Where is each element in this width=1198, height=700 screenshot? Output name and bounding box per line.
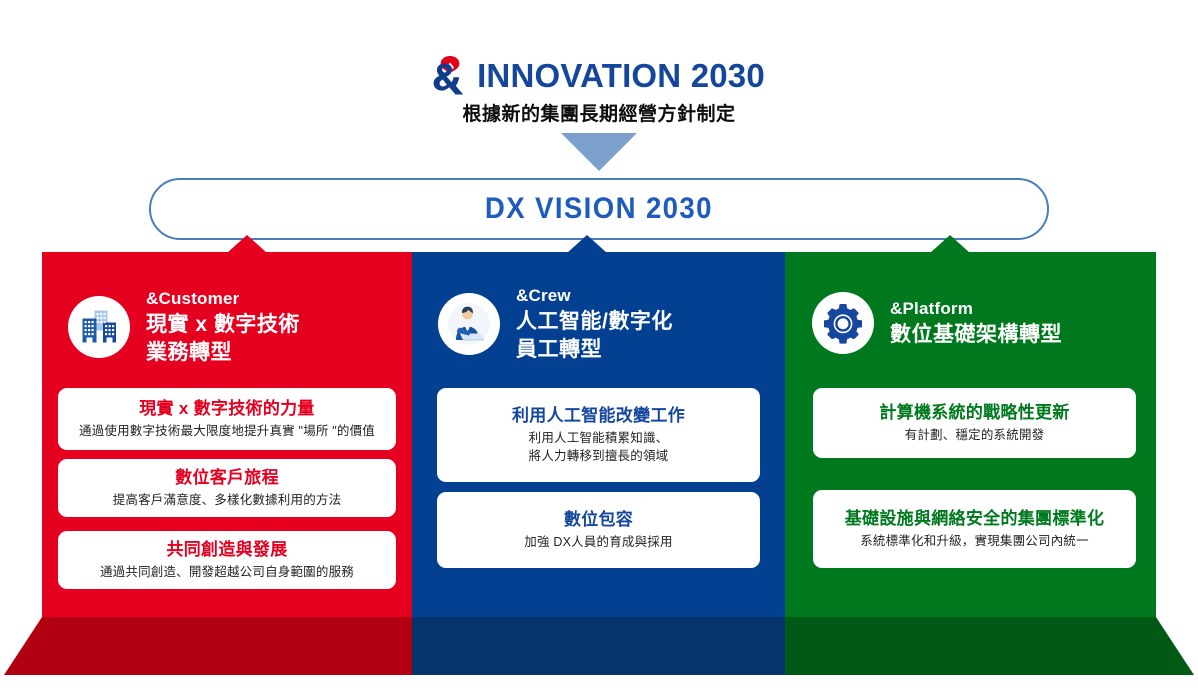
person-laptop-icon: [438, 293, 500, 355]
page-title: INNOVATION 2030: [477, 59, 765, 92]
card-desc: 系統標準化和升級，實現集團公司內統一: [860, 533, 1089, 551]
pillar-crew-title-cn-1: 人工智能/數字化: [516, 308, 673, 336]
down-arrow-icon: [561, 133, 637, 171]
card-title: 共同創造與發展: [166, 539, 287, 561]
card-title: 基礎設施與網絡安全的集團標準化: [845, 508, 1105, 530]
card-title: 計算機系統的戰略性更新: [879, 402, 1069, 424]
card-red-3: 共同創造與發展 通過共同創造、開發超越公司自身範圍的服務: [58, 531, 396, 589]
pillar-platform-title-cn-1: 數位基礎架構轉型: [890, 321, 1062, 349]
card-desc: 提高客戶滿意度、多樣化數據利用的方法: [113, 492, 342, 510]
base-green: [785, 617, 1194, 675]
card-red-2: 數位客戶旅程 提高客戶滿意度、多樣化數據利用的方法: [58, 459, 396, 517]
card-red-1: 現實 x 數字技術的力量 通過使用數字技術最大限度地提升真實 "場所 "的價值: [58, 388, 396, 450]
pillar-customer-title-en: &Customer: [146, 288, 300, 311]
pillar-platform-title-en: &Platform: [890, 298, 1062, 321]
card-title: 數位客戶旅程: [175, 467, 279, 489]
card-desc: 有計劃、穩定的系統開發: [905, 427, 1045, 445]
pillar-arrow-blue-icon: [567, 235, 607, 253]
card-title: 數位包容: [564, 509, 633, 531]
pillar-crew-title-cn-2: 員工轉型: [516, 336, 673, 364]
pillar-customer-title-cn-2: 業務轉型: [146, 339, 300, 367]
card-blue-1: 利用人工智能改變工作 利用人工智能積累知識、 將人力轉移到擅長的領域: [437, 388, 760, 482]
header: INNOVATION 2030 根據新的集團長期經營方針制定: [0, 52, 1198, 126]
card-green-2: 基礎設施與網絡安全的集團標準化 系統標準化和升級，實現集團公司內統一: [813, 490, 1136, 568]
pillar-arrow-red-icon: [227, 235, 267, 253]
pillar-crew-title-en: &Crew: [516, 285, 673, 308]
gear-icon: [812, 292, 874, 354]
card-title: 利用人工智能改變工作: [512, 405, 685, 427]
page-subtitle: 根據新的集團長期經營方針制定: [0, 105, 1198, 126]
pillar-crew-titles: &Crew 人工智能/數字化 員工轉型: [516, 285, 673, 363]
base-red: [4, 617, 412, 675]
card-desc: 加強 DX人員的育成與採用: [524, 534, 672, 552]
pillar-platform-header: &Platform 數位基礎架構轉型: [812, 292, 1062, 354]
card-desc: 通過共同創造、開發超越公司自身範圍的服務: [100, 564, 354, 582]
dx-vision-label: DX VISION 2030: [485, 192, 713, 226]
card-title: 現實 x 數字技術的力量: [139, 398, 315, 420]
card-desc: 通過使用數字技術最大限度地提升真實 "場所 "的價值: [79, 423, 375, 441]
pillar-base-3d: [0, 617, 1198, 675]
card-blue-2: 數位包容 加強 DX人員的育成與採用: [437, 492, 760, 568]
ampersand-logo-icon: [433, 54, 467, 96]
card-desc-line1: 利用人工智能積累知識、: [529, 430, 669, 448]
dx-vision-banner: DX VISION 2030: [149, 178, 1049, 240]
buildings-icon: [68, 296, 130, 358]
pillar-arrow-green-icon: [930, 235, 970, 253]
base-blue: [412, 617, 785, 675]
pillar-platform-titles: &Platform 數位基礎架構轉型: [890, 298, 1062, 349]
card-desc-line2: 將人力轉移到擅長的領域: [529, 448, 669, 466]
pillar-customer-title-cn-1: 現實 x 數字技術: [146, 311, 300, 339]
brand-row: INNOVATION 2030: [0, 52, 1198, 98]
pillar-customer-header: &Customer 現實 x 數字技術 業務轉型: [68, 288, 300, 366]
pillar-customer-titles: &Customer 現實 x 數字技術 業務轉型: [146, 288, 300, 366]
card-green-1: 計算機系統的戰略性更新 有計劃、穩定的系統開發: [813, 388, 1136, 458]
pillar-crew-header: &Crew 人工智能/數字化 員工轉型: [438, 285, 673, 363]
